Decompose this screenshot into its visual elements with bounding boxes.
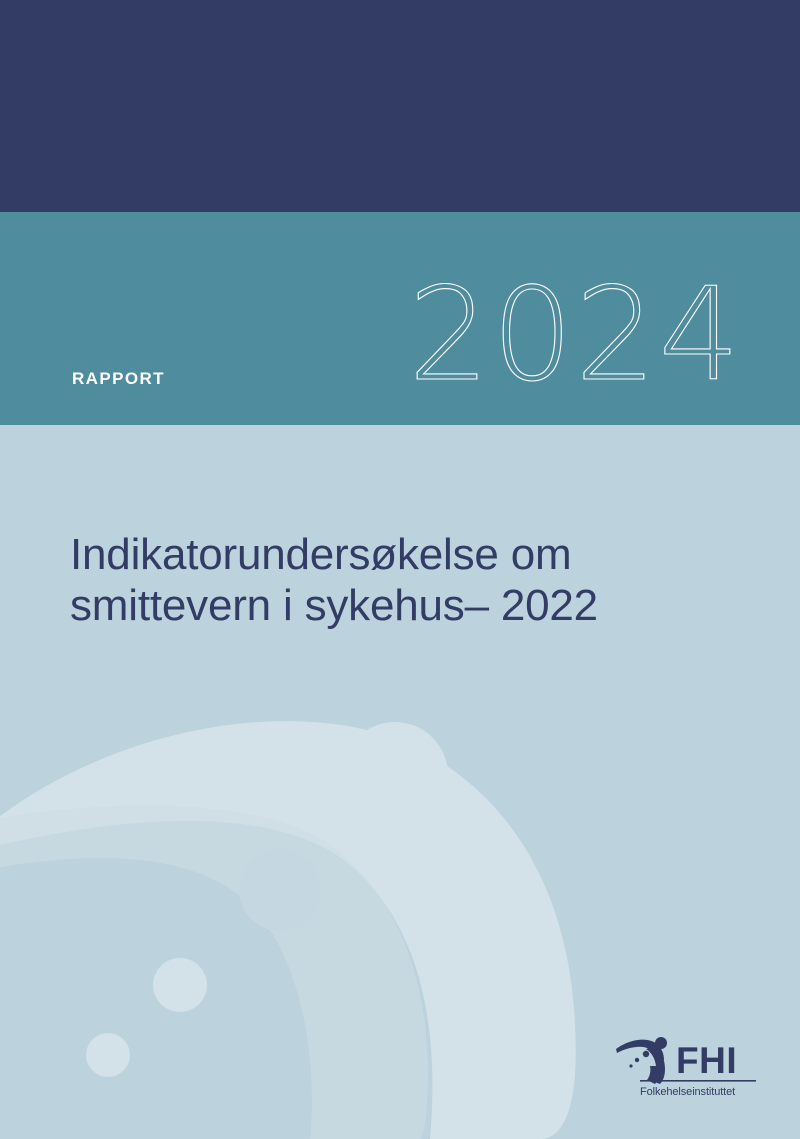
watermark-dot-small (86, 1033, 130, 1077)
fhi-logo: FHI Folkehelseinstituttet (614, 1033, 756, 1103)
report-kicker-label: RAPPORT (72, 370, 165, 387)
fhi-logo-figure-icon (616, 1037, 667, 1084)
cover-body: Indikatorundersøkelse om smittevern i sy… (0, 425, 800, 1139)
page-title: Indikatorundersøkelse om smittevern i sy… (70, 529, 670, 631)
watermark-head-circle (342, 722, 448, 828)
fhi-tagline: Folkehelseinstituttet (640, 1086, 735, 1098)
watermark-dot-medium (153, 958, 207, 1012)
publication-year: 2024 (408, 272, 742, 400)
fhi-wordmark: FHI (676, 1040, 737, 1081)
report-cover: RAPPORT 2024 Indikatorundersøkelse om sm… (0, 0, 800, 1139)
navy-header-band (0, 0, 800, 212)
logo-divider (640, 1080, 756, 1082)
watermark-dot-large (239, 849, 321, 931)
